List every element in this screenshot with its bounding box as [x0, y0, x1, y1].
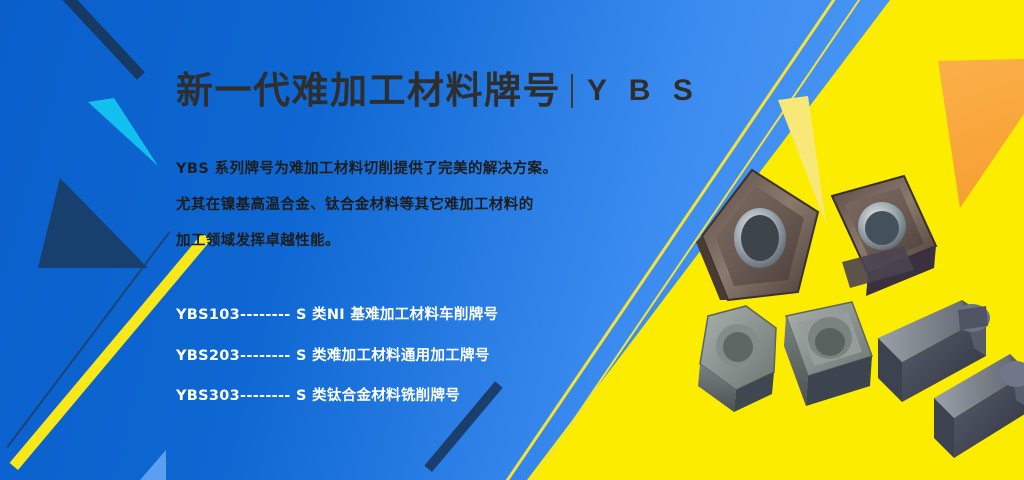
product-banner: 新一代难加工材料牌号 Y B S YBS 系列牌号为难加工材料切削提供了完美的解… [0, 0, 1024, 480]
description-line: YBS 系列牌号为难加工材料切削提供了完美的解决方案。 [176, 162, 576, 178]
model-item: YBS203-------- S 类难加工材料通用加工牌号 [176, 349, 498, 364]
banner-text-content: 新一代难加工材料牌号 Y B S YBS 系列牌号为难加工材料切削提供了完美的解… [176, 0, 736, 480]
model-item: YBS103-------- S 类NI 基难加工材料车削牌号 [176, 308, 498, 323]
inserts-illustration [690, 150, 1024, 480]
title-english: Y B S [587, 74, 700, 108]
description-line: 加工领域发挥卓越性能。 [176, 234, 576, 250]
banner-title: 新一代难加工材料牌号 Y B S [176, 72, 700, 109]
square-milling-insert [784, 302, 872, 406]
description-line: 尤其在镍基高温合金、钛合金材料等其它难加工材料的 [176, 198, 576, 214]
banner-description: YBS 系列牌号为难加工材料切削提供了完美的解决方案。 尤其在镍基高温合金、钛合… [176, 162, 576, 270]
model-item: YBS303-------- S 类钛合金材料铣削牌号 [176, 389, 498, 404]
product-image-inserts [690, 150, 1024, 480]
title-divider [571, 74, 573, 108]
model-list: YBS103-------- S 类NI 基难加工材料车削牌号 YBS203--… [176, 308, 498, 430]
button-milling-insert [698, 306, 776, 412]
title-chinese: 新一代难加工材料牌号 [176, 72, 561, 109]
trigon-insert [696, 170, 818, 300]
